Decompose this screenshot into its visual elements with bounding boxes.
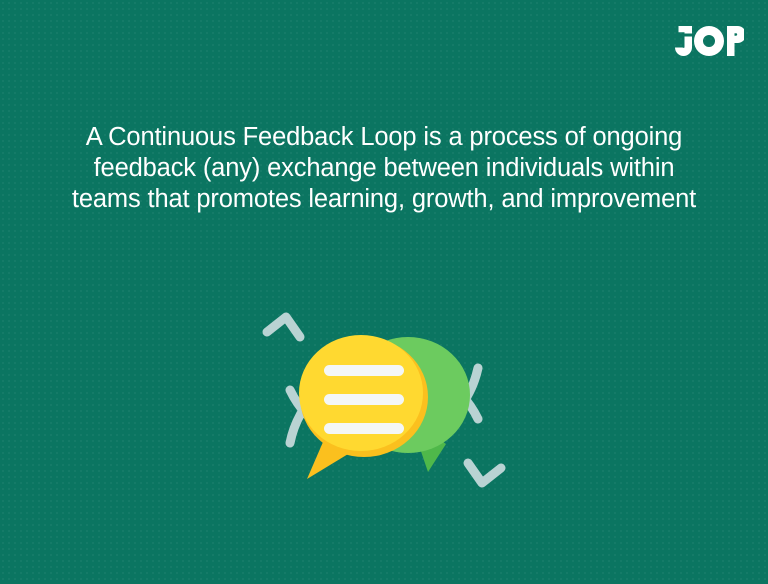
loop-arrow-head-lower-right bbox=[468, 463, 501, 483]
yellow-speech-bubble bbox=[299, 335, 428, 479]
jop-logo[interactable] bbox=[672, 26, 744, 56]
loop-arrow-head-upper-left bbox=[267, 317, 300, 337]
message-lines-group bbox=[324, 365, 404, 434]
headline-text: A Continuous Feedback Loop is a process … bbox=[58, 122, 710, 215]
feedback-loop-illustration bbox=[250, 272, 518, 528]
poster-canvas: A Continuous Feedback Loop is a process … bbox=[0, 0, 768, 584]
message-line-2 bbox=[324, 394, 404, 405]
message-line-1 bbox=[324, 365, 404, 376]
message-line-3 bbox=[324, 423, 404, 434]
